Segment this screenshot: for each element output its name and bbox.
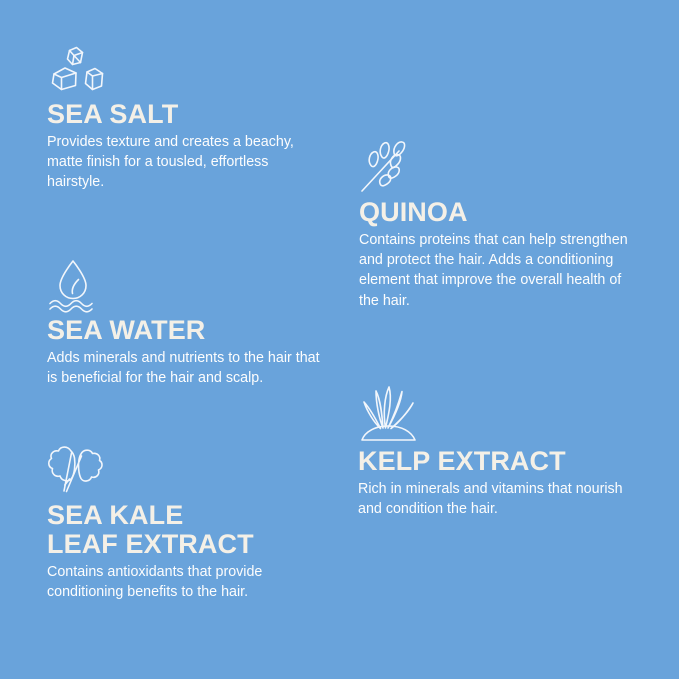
ingredient-description: Rich in minerals and vitamins that nouri… [358,479,623,520]
kale-leaves-icon [47,441,312,497]
ingredient-description: Contains antioxidants that provide condi… [47,562,312,603]
ingredient-description: Adds minerals and nutrients to the hair … [47,348,332,389]
ingredient-title: SEA WATER [47,316,332,345]
water-droplet-waves-icon [47,258,332,312]
ingredients-infographic: SEA SALT Provides texture and creates a … [0,0,679,679]
ingredient-block-sea-salt: SEA SALT Provides texture and creates a … [47,44,322,193]
ingredient-title: KELP EXTRACT [358,447,623,476]
ingredient-title: SEA KALE LEAF EXTRACT [47,501,312,559]
quinoa-grain-stalk-icon [359,138,629,194]
ingredient-title: QUINOA [359,198,629,227]
ingredient-block-sea-kale: SEA KALE LEAF EXTRACT Contains antioxida… [47,441,312,602]
salt-crystals-icon [47,44,322,96]
ingredient-description: Contains proteins that can help strength… [359,230,629,311]
ingredient-block-kelp-extract: KELP EXTRACT Rich in minerals and vitami… [358,385,623,519]
ingredient-title: SEA SALT [47,100,322,129]
kelp-seaweed-icon [358,385,623,443]
ingredient-description: Provides texture and creates a beachy, m… [47,132,322,193]
ingredient-block-quinoa: QUINOA Contains proteins that can help s… [359,138,629,311]
ingredient-block-sea-water: SEA WATER Adds minerals and nutrients to… [47,258,332,388]
